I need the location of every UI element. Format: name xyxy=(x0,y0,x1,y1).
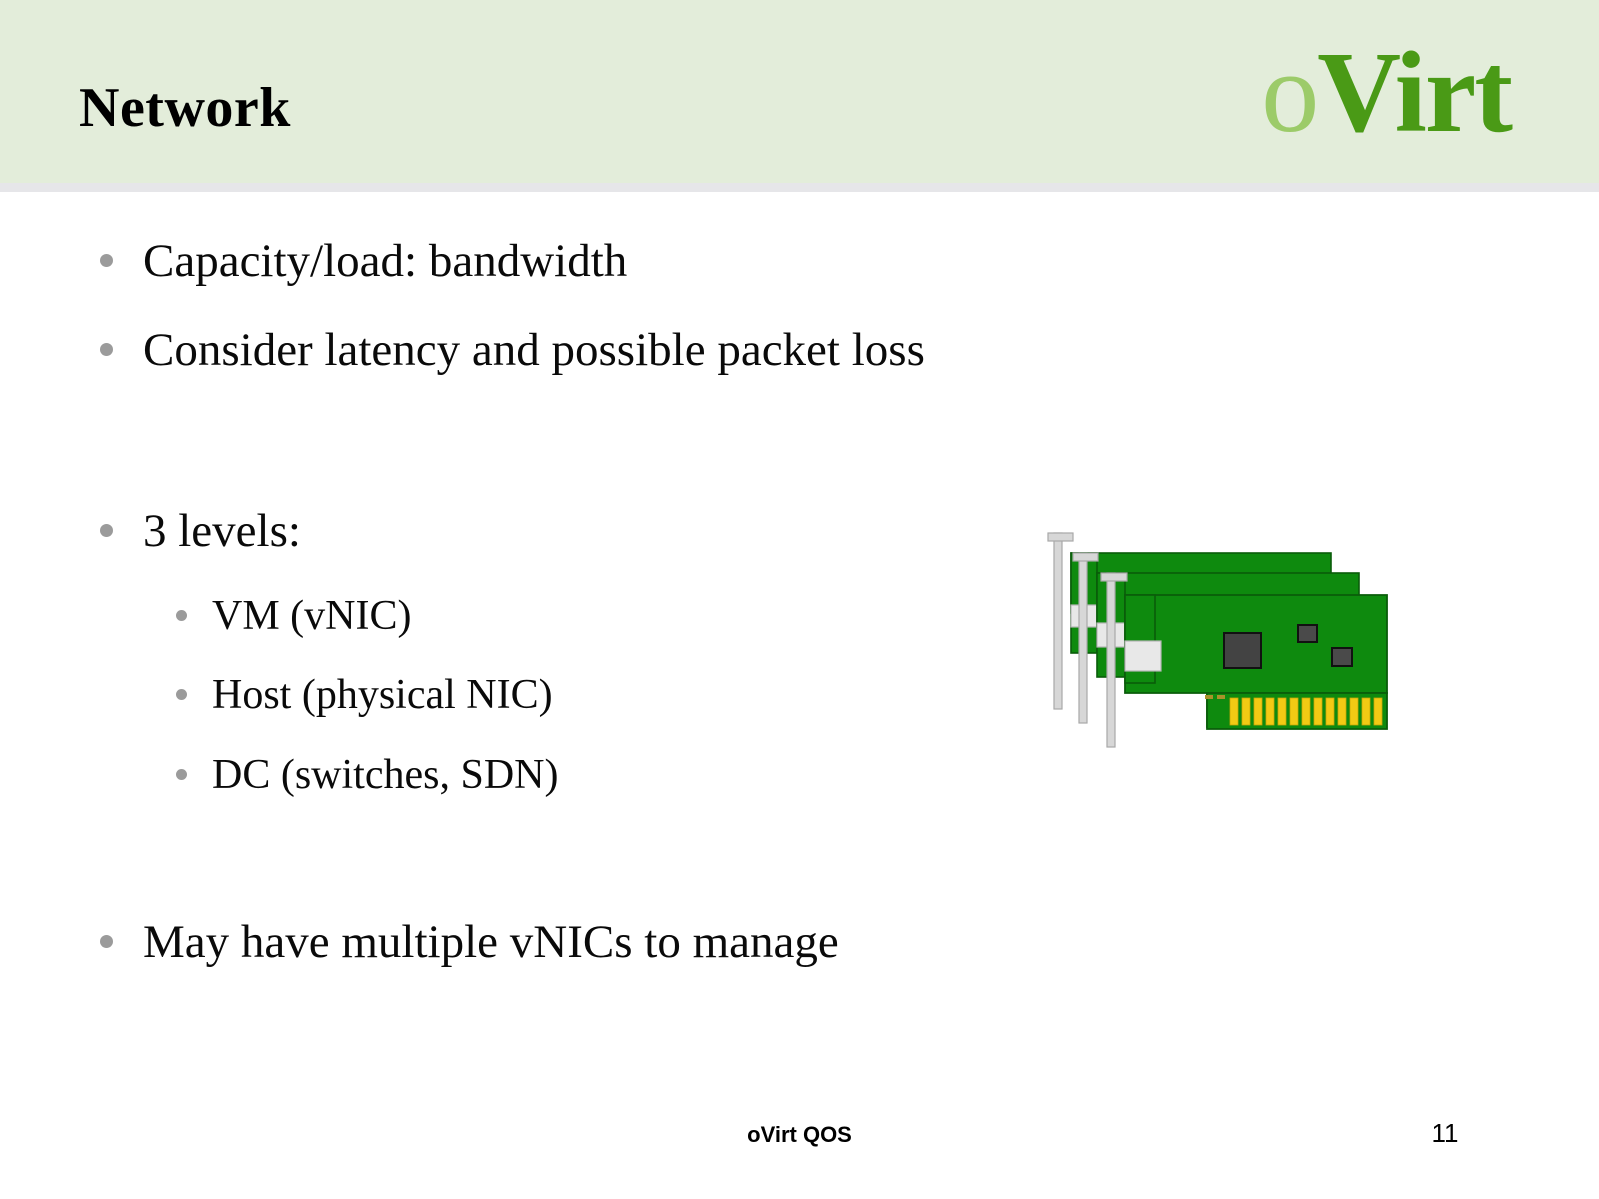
bullet-label: Capacity/load: bandwidth xyxy=(143,234,627,288)
bullet-dot-icon xyxy=(100,254,113,267)
sub-bullet-label: DC (switches, SDN) xyxy=(212,751,558,799)
sub-bullet-label: VM (vNIC) xyxy=(212,592,411,640)
sub-bullet-item: VM (vNIC) xyxy=(176,592,411,640)
bullet-dot-icon xyxy=(100,524,113,537)
bullet-item: May have multiple vNICs to manage xyxy=(100,915,839,969)
page-title: Network xyxy=(79,76,291,140)
logo-word-virt: Virt xyxy=(1317,29,1511,157)
bullet-dot-icon xyxy=(100,343,113,356)
bullet-dot-icon xyxy=(176,610,187,621)
page-number: 11 xyxy=(1400,1118,1490,1149)
bullet-dot-icon xyxy=(176,689,187,700)
bullet-label: May have multiple vNICs to manage xyxy=(143,915,839,969)
header-divider xyxy=(0,183,1599,192)
slide-footer: oVirt QOS xyxy=(0,1122,1599,1148)
sub-bullet-item: DC (switches, SDN) xyxy=(176,751,558,799)
bullet-dot-icon xyxy=(100,935,113,948)
bullet-item: Capacity/load: bandwidth xyxy=(100,234,627,288)
sub-bullet-label: Host (physical NIC) xyxy=(212,671,553,719)
bullet-dot-icon xyxy=(176,769,187,780)
bullet-item: 3 levels: xyxy=(100,504,301,558)
bullet-item: Consider latency and possible packet los… xyxy=(100,323,925,377)
logo-letter-o: o xyxy=(1261,29,1317,157)
sub-bullet-item: Host (physical NIC) xyxy=(176,671,553,719)
slide-canvas: Network oVirt Capacity/load: bandwidth C… xyxy=(0,0,1599,1199)
ovirt-logo: oVirt xyxy=(1261,34,1511,152)
bullet-label: 3 levels: xyxy=(143,504,301,558)
bullet-label: Consider latency and possible packet los… xyxy=(143,323,925,377)
network-card-image xyxy=(1015,505,1395,755)
